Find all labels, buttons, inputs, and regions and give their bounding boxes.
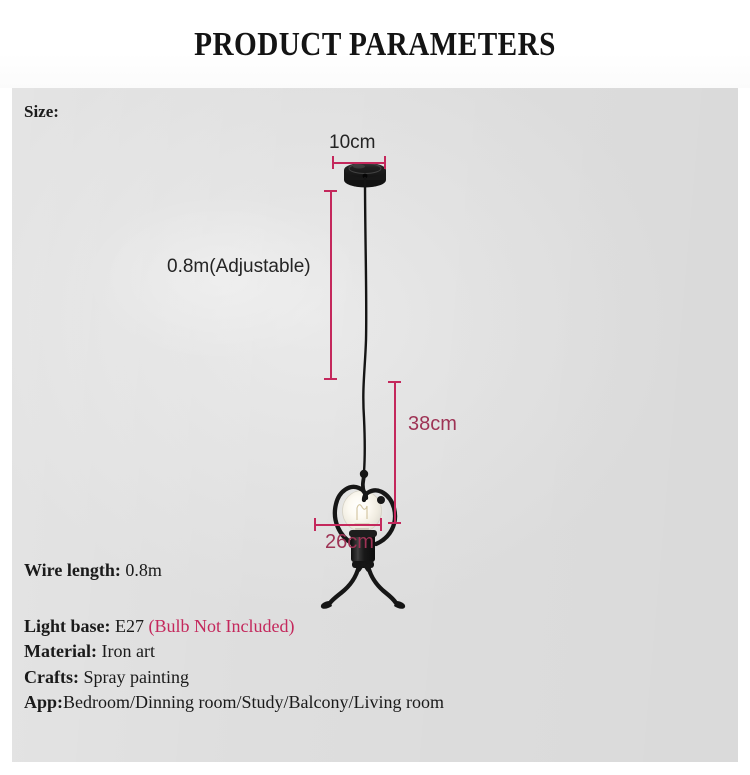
- dimension-line: [332, 162, 386, 164]
- dimension-tick: [388, 381, 401, 383]
- dimension-tick: [388, 522, 401, 524]
- spec-key: Wire length:: [24, 560, 121, 580]
- spec-value: Iron art: [101, 641, 154, 661]
- power-cord: [363, 178, 366, 472]
- spec-key: Material:: [24, 641, 97, 661]
- specifications-list: Wire length: 0.8m Light base: E27 (Bulb …: [24, 558, 714, 716]
- product-parameters-panel: Size:: [12, 88, 738, 762]
- dimension-cord-length-label: 0.8m(Adjustable): [167, 256, 311, 278]
- dimension-line: [314, 524, 382, 526]
- dimension-figure-width-label: 26cm: [325, 531, 374, 554]
- spec-key: Crafts:: [24, 667, 79, 687]
- dimension-figure-height-label: 38cm: [408, 413, 457, 436]
- dimension-tick: [332, 156, 334, 169]
- spec-row-light-base: Light base: E27 (Bulb Not Included): [24, 614, 714, 640]
- spec-row-wire-length: Wire length: 0.8m: [24, 558, 714, 584]
- spec-row-crafts: Crafts: Spray painting: [24, 665, 714, 691]
- dimension-tick: [384, 156, 386, 169]
- spec-value: Spray painting: [83, 667, 189, 687]
- spec-row-material: Material: Iron art: [24, 639, 714, 665]
- dimension-tick: [314, 518, 316, 531]
- dimension-tick: [324, 378, 337, 380]
- spec-key: Light base:: [24, 616, 111, 636]
- spec-row-app: App:Bedroom/Dinning room/Study/Balcony/L…: [24, 690, 714, 716]
- page-title: PRODUCT PARAMETERS: [53, 26, 698, 64]
- spec-value: 0.8m: [125, 560, 162, 580]
- header-bar: PRODUCT PARAMETERS: [0, 0, 750, 88]
- spec-value: E27: [115, 616, 144, 636]
- dimension-line: [394, 381, 396, 524]
- spec-key: App:: [24, 692, 63, 712]
- spec-note-bulb-not-included: (Bulb Not Included): [149, 616, 295, 636]
- spec-value: Bedroom/Dinning room/Study/Balcony/Livin…: [63, 692, 444, 712]
- dimension-canopy-width-label: 10cm: [329, 132, 375, 154]
- dimension-tick: [380, 518, 382, 531]
- dimension-tick: [324, 190, 337, 192]
- dimension-line: [330, 190, 332, 380]
